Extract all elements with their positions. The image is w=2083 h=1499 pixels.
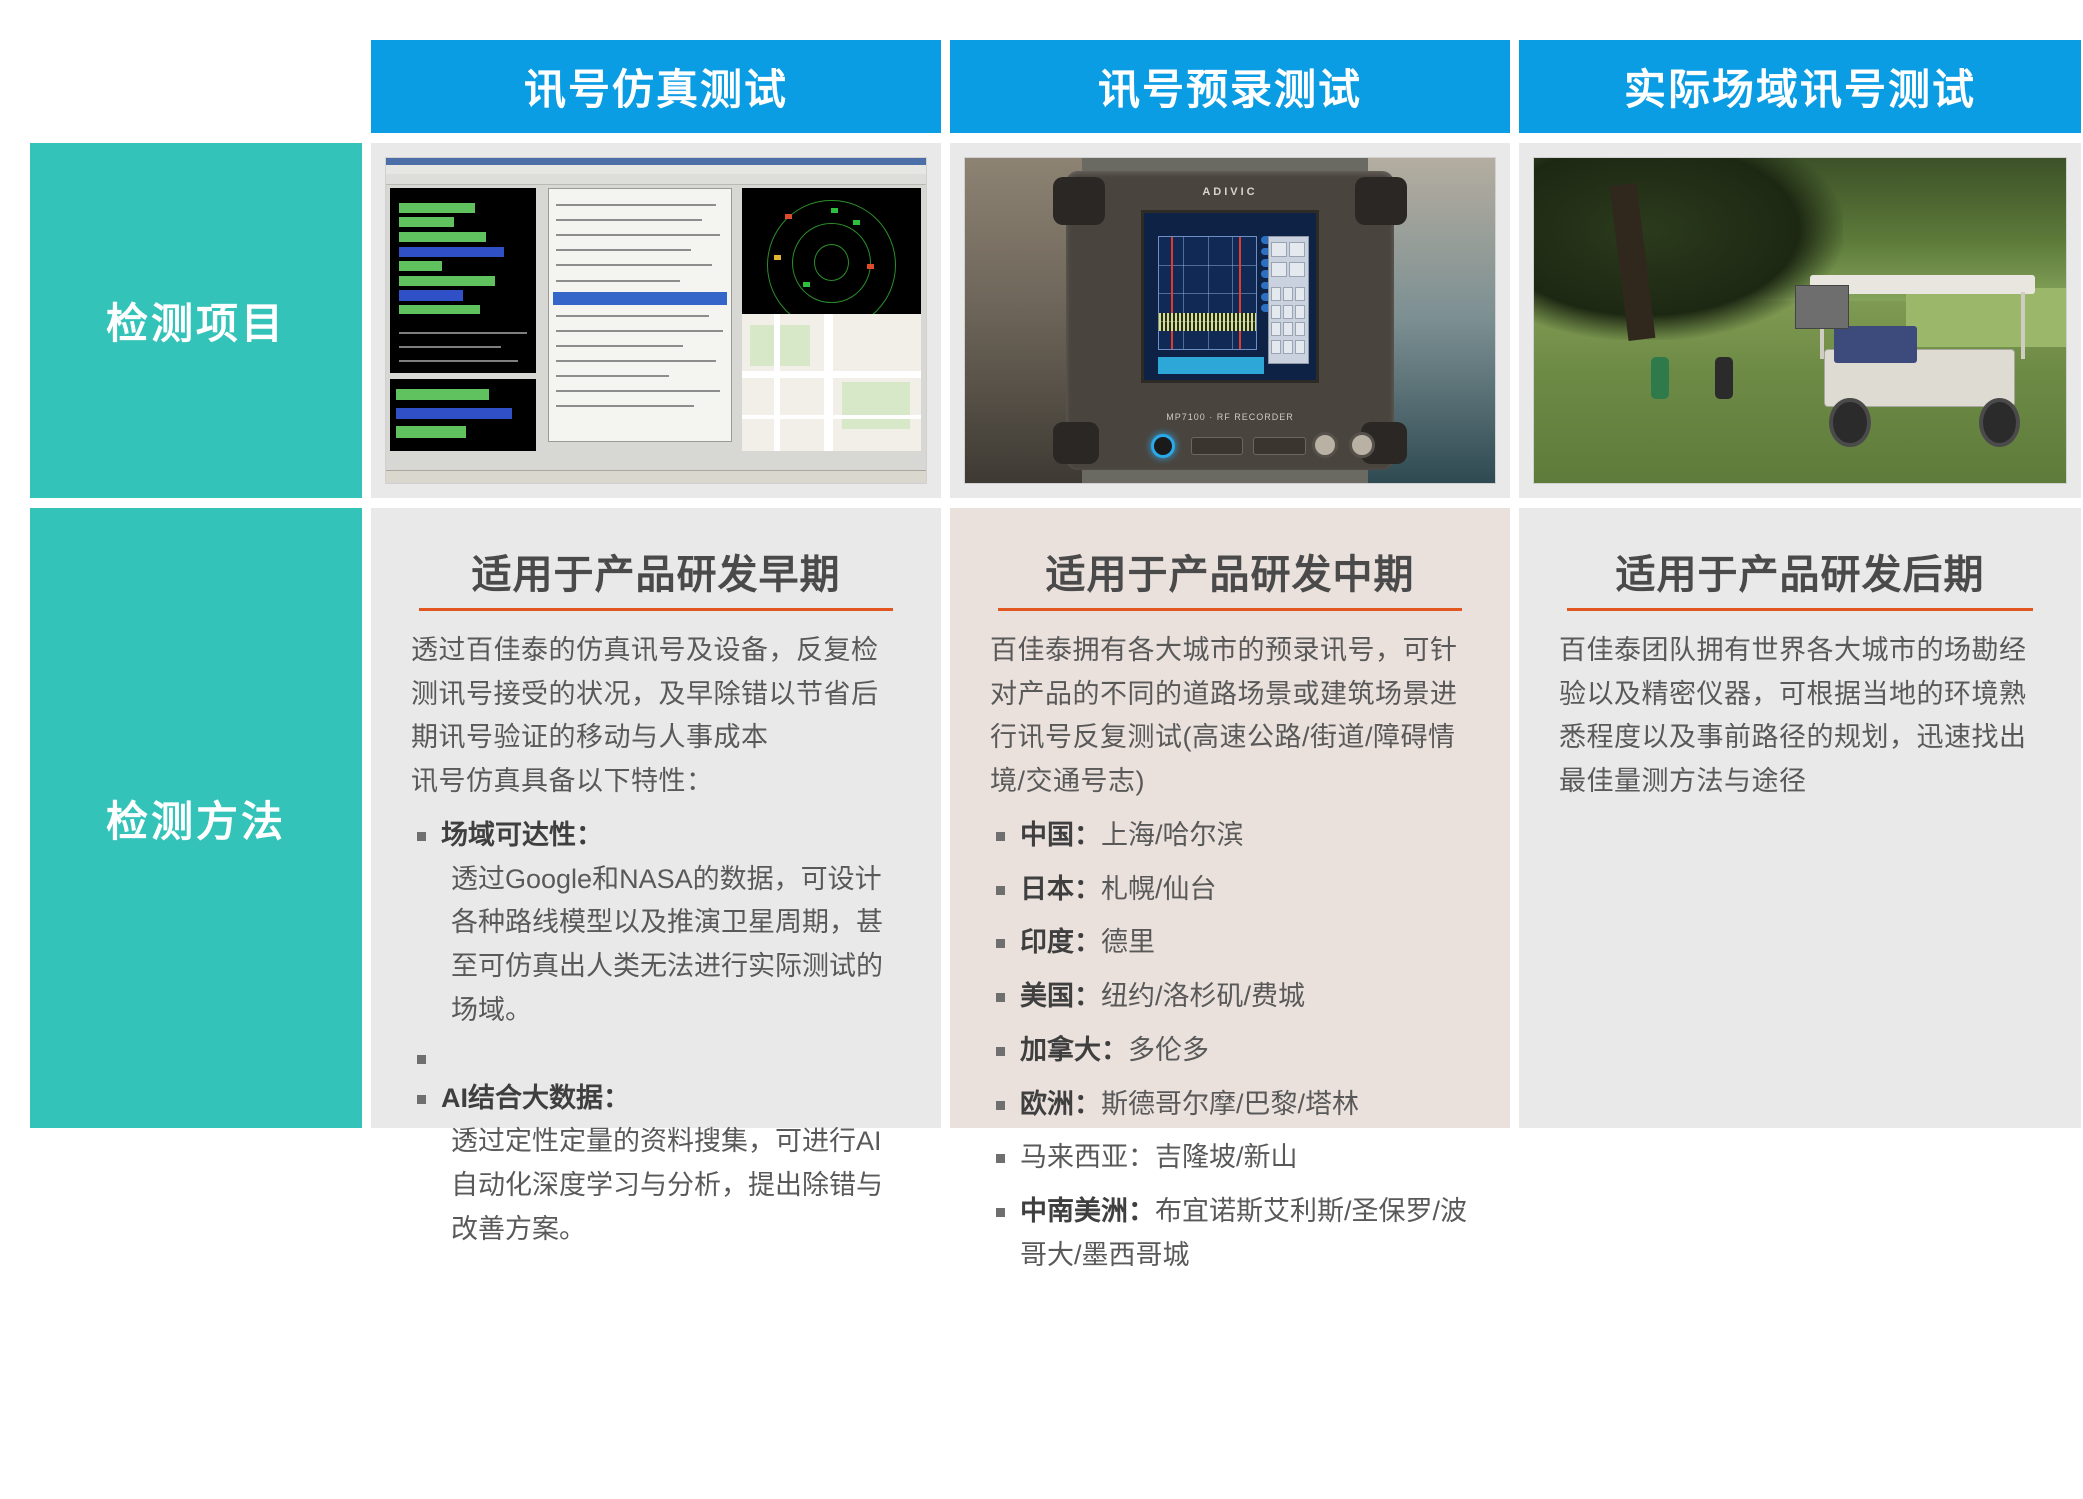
column-header-3: 实际场域讯号测试 [1519, 40, 2081, 133]
corner-blank-cell [30, 40, 362, 133]
list-item: 印度：德里 [990, 921, 1470, 965]
paragraph-1-2: 讯号仿真具备以下特性： [411, 760, 901, 804]
subhead-1: 适用于产品研发早期 [411, 542, 901, 600]
bullet-body: 透过Google和NASA的数据，可设计各种路线模型以及推演卫星周期，甚至可仿真… [441, 858, 901, 1033]
outdoor-field-test-golf-cart-under-tree-photo [1533, 157, 2067, 484]
gnss-simulation-software-screenshot [385, 157, 927, 484]
image-cell-simulation [371, 143, 941, 498]
list-item: 中南美洲：布宜诺斯艾利斯/圣保罗/波哥大/墨西哥城 [990, 1190, 1470, 1277]
bullet-term: 场域可达性： [441, 820, 603, 850]
text-cell-field-test: 适用于产品研发后期 百佳泰团队拥有世界各大城市的场勘经验以及精密仪器，可根据当地… [1519, 508, 2081, 1128]
comparison-grid: 讯号仿真测试 讯号预录测试 实际场域讯号测试 检测项目 [30, 40, 2063, 1128]
column-header-1: 讯号仿真测试 [371, 40, 941, 133]
list-item: 欧洲：斯德哥尔摩/巴黎/塔林 [990, 1083, 1470, 1127]
bullet-body: 上海/哈尔滨 [1101, 820, 1244, 850]
list-spacer [411, 1037, 901, 1073]
bullet-body: 多伦多 [1128, 1035, 1209, 1065]
list-item: 马来西亚：吉隆坡/新山 [990, 1136, 1470, 1180]
list-item: 美国：纽约/洛杉矶/费城 [990, 975, 1470, 1019]
image-cell-field-test [1519, 143, 2081, 498]
row-label-inspection-item: 检测项目 [30, 143, 362, 498]
bullet-term: 美国： [1020, 981, 1101, 1011]
divider-rule-2 [998, 608, 1462, 611]
bullet-term: AI结合大数据： [441, 1083, 630, 1113]
paragraph-1-1: 透过百佳泰的仿真讯号及设备，反复检测讯号接受的状况，及早除错以节省后期讯号验证的… [411, 629, 901, 760]
bullet-body: 斯德哥尔摩/巴黎/塔林 [1101, 1089, 1359, 1119]
bullet-term: 欧洲： [1020, 1089, 1101, 1119]
column-header-2: 讯号预录测试 [950, 40, 1510, 133]
bullet-term: 中国： [1020, 820, 1101, 850]
bullet-body: 吉隆坡/新山 [1155, 1142, 1298, 1172]
bullet-term: 中南美洲： [1020, 1196, 1155, 1226]
divider-rule-3 [1567, 608, 2033, 611]
list-item: 加拿大：多伦多 [990, 1029, 1470, 1073]
text-cell-simulation: 适用于产品研发早期 透过百佳泰的仿真讯号及设备，反复检测讯号接受的状况，及早除错… [371, 508, 941, 1128]
divider-rule-1 [419, 608, 893, 611]
list-item: AI结合大数据： 透过定性定量的资料搜集，可进行AI自动化深度学习与分析，提出除… [411, 1077, 901, 1252]
bullet-term: 日本： [1020, 874, 1101, 904]
subhead-3: 适用于产品研发后期 [1559, 542, 2041, 600]
list-item: 日本：札幌/仙台 [990, 868, 1470, 912]
bullet-body: 透过定性定量的资料搜集，可进行AI自动化深度学习与分析，提出除错与改善方案。 [441, 1120, 901, 1251]
feature-list-1: 场域可达性： 透过Google和NASA的数据，可设计各种路线模型以及推演卫星周… [411, 814, 901, 1252]
city-list-2: 中国：上海/哈尔滨 日本：札幌/仙台 印度：德里 美国：纽约/洛杉矶/费城 加拿… [990, 814, 1470, 1278]
bullet-body: 札幌/仙台 [1101, 874, 1217, 904]
bullet-body: 纽约/洛杉矶/费城 [1101, 981, 1305, 1011]
image-cell-prerecorded: ADIVIC [950, 143, 1510, 498]
comparison-table-sheet: 讯号仿真测试 讯号预录测试 实际场域讯号测试 检测项目 [0, 0, 2083, 1499]
adivic-mp7100-rf-recorder-device-photo: ADIVIC [964, 157, 1496, 484]
paragraph-2-1: 百佳泰拥有各大城市的预录讯号，可针对产品的不同的道路场景或建筑场景进行讯号反复测… [990, 629, 1470, 804]
bullet-term: 印度： [1020, 927, 1101, 957]
list-item: 中国：上海/哈尔滨 [990, 814, 1470, 858]
bullet-term: 加拿大： [1020, 1035, 1128, 1065]
bullet-body: 德里 [1101, 927, 1155, 957]
list-item: 场域可达性： 透过Google和NASA的数据，可设计各种路线模型以及推演卫星周… [411, 814, 901, 1033]
row-label-inspection-method: 检测方法 [30, 508, 362, 1128]
paragraph-3-1: 百佳泰团队拥有世界各大城市的场勘经验以及精密仪器，可根据当地的环境熟悉程度以及事… [1559, 629, 2041, 804]
subhead-2: 适用于产品研发中期 [990, 542, 1470, 600]
text-cell-prerecorded: 适用于产品研发中期 百佳泰拥有各大城市的预录讯号，可针对产品的不同的道路场景或建… [950, 508, 1510, 1128]
bullet-term: 马来西亚： [1020, 1142, 1155, 1172]
